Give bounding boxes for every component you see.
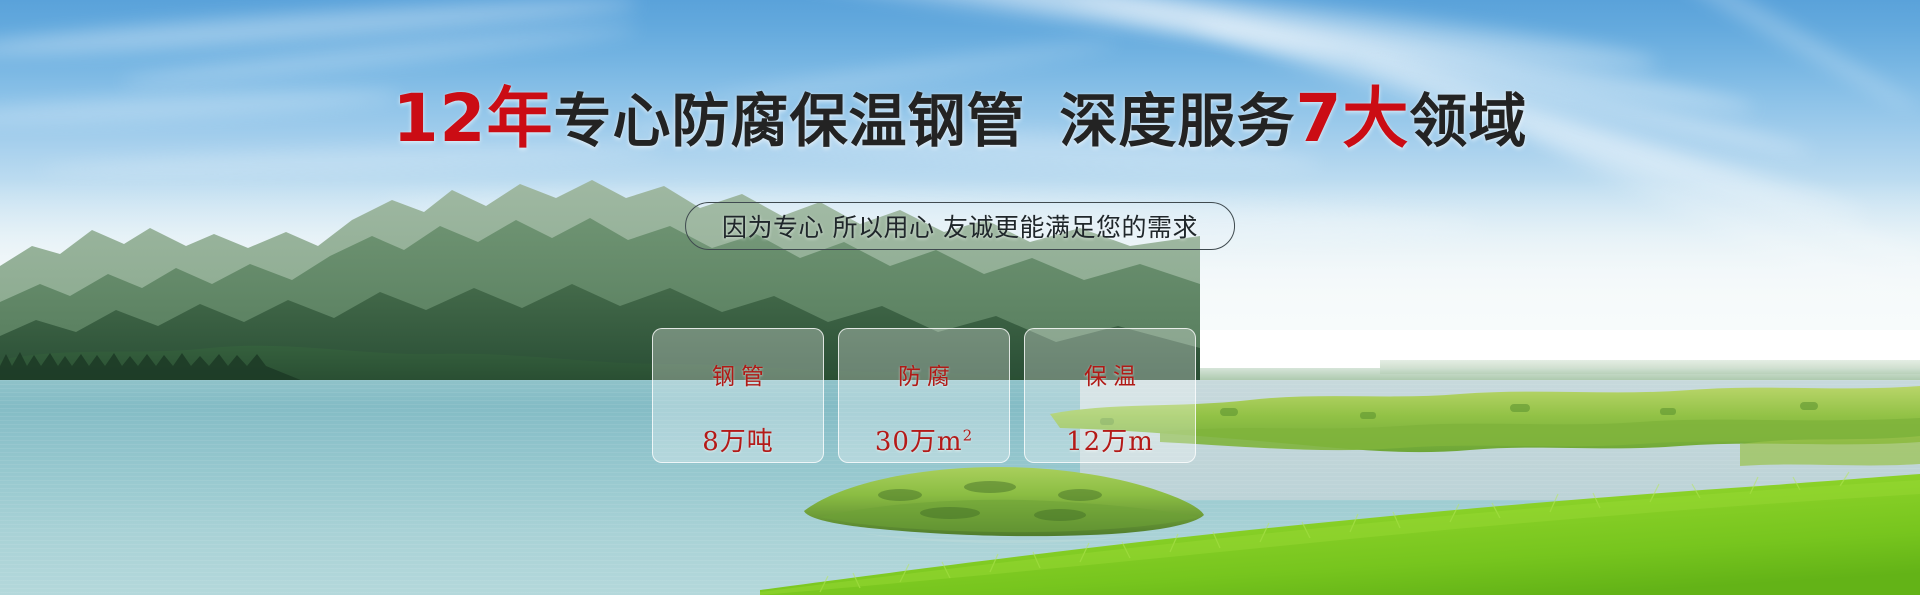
stat-card-value-superscript: 2 <box>963 426 974 444</box>
headline-main-text: 专心防腐保温钢管 <box>553 87 1025 155</box>
stat-card-value-text: 30万m <box>875 427 963 457</box>
stat-card-value: 30万m2 <box>875 421 973 458</box>
headline-service-text: 深度服务 <box>1059 87 1295 155</box>
stat-card-value-text: 12万m <box>1066 427 1154 457</box>
foreground-grass <box>760 470 1920 595</box>
stat-card-title: 保温 <box>1078 357 1142 391</box>
headline-fields-unit: 大 <box>1342 80 1409 157</box>
headline-fields-number: 7 <box>1295 80 1342 157</box>
stat-card-value-text: 8万吨 <box>702 427 774 457</box>
stat-card-group: 钢管 8万吨 防腐 30万m2 保温 12万m <box>652 328 1196 463</box>
headline-years-unit: 年 <box>486 80 553 157</box>
stat-card-insulation[interactable]: 保温 12万m <box>1024 328 1196 463</box>
stat-card-value: 8万吨 <box>702 421 774 458</box>
headline-fields-text: 领域 <box>1409 87 1527 155</box>
page-title: 12年专心防腐保温钢管深度服务7大领域 <box>0 86 1920 154</box>
subtitle-pill: 因为专心 所以用心 友诚更能满足您的需求 <box>685 202 1235 250</box>
stat-card-steel-pipe[interactable]: 钢管 8万吨 <box>652 328 824 463</box>
subtitle-text: 因为专心 所以用心 友诚更能满足您的需求 <box>722 208 1198 244</box>
promo-banner: 12年专心防腐保温钢管深度服务7大领域 因为专心 所以用心 友诚更能满足您的需求… <box>0 0 1920 595</box>
stat-card-anticorrosion[interactable]: 防腐 30万m2 <box>838 328 1010 463</box>
headline-years-number: 12 <box>393 80 487 157</box>
stat-card-value: 12万m <box>1066 421 1154 458</box>
stat-card-title: 防腐 <box>892 357 956 391</box>
stat-card-title: 钢管 <box>706 357 770 391</box>
